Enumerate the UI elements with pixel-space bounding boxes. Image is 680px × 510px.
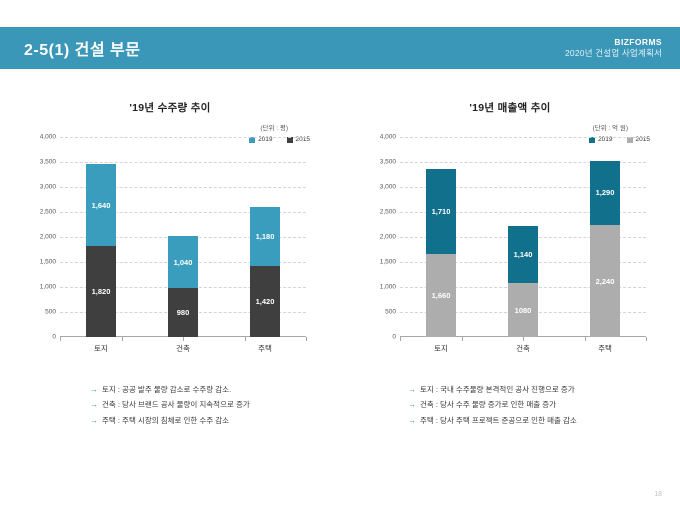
- x-axis-tickmark: [245, 337, 246, 341]
- bar-value-label: 1,040: [174, 258, 193, 267]
- bar-column[interactable]: 1,6401,820: [86, 137, 116, 337]
- bar-value-label: 1,140: [514, 250, 533, 259]
- note-line: →건축 : 당사 수주 물량 증가로 인한 매출 증가: [408, 397, 680, 412]
- note-text: 건축 : 당사 수주 물량 증가로 인한 매출 증가: [420, 398, 556, 412]
- x-axis-tickmark: [183, 337, 184, 341]
- bar-segment[interactable]: 1,660: [426, 254, 456, 337]
- y-axis: 4,0003,5003,0002,5002,0001,5001,0005000: [14, 137, 60, 337]
- x-axis-labels: 토지건축주택: [400, 343, 646, 354]
- x-axis-tickmark: [60, 337, 61, 341]
- x-axis-label: 주택: [245, 343, 285, 354]
- x-axis-label: 건축: [503, 343, 543, 354]
- note-line: →주택 : 당사 주택 프로젝트 준공으로 인한 매출 감소: [408, 413, 680, 428]
- chart-title: '19년 매출액 추이: [340, 100, 680, 115]
- y-axis: 4,0003,5003,0002,5002,0001,5001,0005000: [354, 137, 400, 337]
- y-axis-tick: 0: [52, 334, 56, 341]
- charts-row: '19년 수주량 추이 (단위 : 평) 20192015 4,0003,500…: [0, 100, 680, 362]
- bar-segment[interactable]: 980: [168, 288, 198, 337]
- bar-segment[interactable]: 1,820: [86, 246, 116, 337]
- note-line: →주택 : 주택 시장의 침체로 인한 수주 감소: [90, 413, 340, 428]
- bar-column[interactable]: 1,2902,240: [590, 137, 620, 337]
- note-text: 토지 : 국내 수주물량 본격적인 공사 진행으로 증가: [420, 383, 575, 397]
- chart-panel-revenue: '19년 매출액 추이 (단위 : 억 원) 20192015 4,0003,5…: [340, 100, 680, 362]
- notes-column-orders: →토지 : 공공 발주 물량 감소로 수주량 감소.→건축 : 당사 브랜드 공…: [0, 382, 340, 428]
- notes-row: →토지 : 공공 발주 물량 감소로 수주량 감소.→건축 : 당사 브랜드 공…: [0, 382, 680, 428]
- x-axis-labels: 토지건축주택: [60, 343, 306, 354]
- x-axis-tickmark: [585, 337, 586, 341]
- x-axis-tickmark: [306, 337, 307, 341]
- y-axis-tick: 3,000: [380, 184, 396, 191]
- note-text: 건축 : 당사 브랜드 공사 물량이 지속적으로 증가: [102, 398, 250, 412]
- page-title: 2-5(1) 건설 부문: [24, 36, 140, 60]
- note-text: 토지 : 공공 발주 물량 감소로 수주량 감소.: [102, 383, 231, 397]
- bar-value-label: 1,420: [256, 297, 275, 306]
- bar-value-label: 1,660: [432, 291, 451, 300]
- note-text: 주택 : 당사 주택 프로젝트 준공으로 인한 매출 감소: [420, 414, 577, 428]
- y-axis-tick: 3,000: [40, 184, 56, 191]
- y-axis-tick: 4,000: [40, 134, 56, 141]
- slide-header-band: 2-5(1) 건설 부문 BIZFORMS 2020년 건설업 사업계획서: [0, 27, 680, 69]
- chart-unit-label: (단위 : 억 원): [593, 122, 628, 132]
- arrow-right-icon: →: [408, 413, 416, 428]
- arrow-right-icon: →: [90, 397, 98, 412]
- arrow-right-icon: →: [408, 397, 416, 412]
- bar-column[interactable]: 1,7101,660: [426, 137, 456, 337]
- x-axis-tickmark: [462, 337, 463, 341]
- x-axis-label: 토지: [421, 343, 461, 354]
- header-brand-block: BIZFORMS 2020년 건설업 사업계획서: [565, 37, 662, 58]
- arrow-right-icon: →: [90, 413, 98, 428]
- bar-segment[interactable]: 1080: [508, 283, 538, 337]
- note-line: →토지 : 국내 수주물량 본격적인 공사 진행으로 증가: [408, 382, 680, 397]
- bar-group: 1,6401,8201,0409801,1801,420: [60, 137, 306, 337]
- y-axis-tick: 3,500: [380, 159, 396, 166]
- chart-title: '19년 수주량 추이: [0, 100, 340, 115]
- bar-segment[interactable]: 1,640: [86, 164, 116, 246]
- brand-subtitle: 2020년 건설업 사업계획서: [565, 48, 662, 59]
- bar-column[interactable]: 1,040980: [168, 137, 198, 337]
- y-axis-tick: 2,500: [380, 209, 396, 216]
- bar-value-label: 1,180: [256, 232, 275, 241]
- x-axis-tickmark: [400, 337, 401, 341]
- y-axis-tick: 500: [385, 309, 396, 316]
- bar-group: 1,7101,6601,14010801,2902,240: [400, 137, 646, 337]
- bar-column[interactable]: 1,1401080: [508, 137, 538, 337]
- bar-segment[interactable]: 1,180: [250, 207, 280, 266]
- bar-value-label: 2,240: [596, 277, 615, 286]
- note-text: 주택 : 주택 시장의 침체로 인한 수주 감소: [102, 414, 229, 428]
- bar-value-label: 1,290: [596, 188, 615, 197]
- y-axis-tick: 4,000: [380, 134, 396, 141]
- brand-name: BIZFORMS: [565, 37, 662, 48]
- bar-segment[interactable]: 1,140: [508, 226, 538, 283]
- chart-panel-orders: '19년 수주량 추이 (단위 : 평) 20192015 4,0003,500…: [0, 100, 340, 362]
- y-axis-tick: 1,000: [40, 284, 56, 291]
- x-axis-tickmark: [523, 337, 524, 341]
- x-axis-tickmark: [646, 337, 647, 341]
- x-axis-label: 건축: [163, 343, 203, 354]
- bar-segment[interactable]: 1,710: [426, 169, 456, 255]
- x-axis-label: 주택: [585, 343, 625, 354]
- y-axis-tick: 3,500: [40, 159, 56, 166]
- bar-value-label: 1,820: [92, 287, 111, 296]
- notes-column-revenue: →토지 : 국내 수주물량 본격적인 공사 진행으로 증가→건축 : 당사 수주…: [340, 382, 680, 428]
- bar-segment[interactable]: 1,290: [590, 161, 620, 226]
- y-axis-tick: 0: [392, 334, 396, 341]
- y-axis-tick: 2,500: [40, 209, 56, 216]
- note-line: →토지 : 공공 발주 물량 감소로 수주량 감소.: [90, 382, 340, 397]
- bar-column[interactable]: 1,1801,420: [250, 137, 280, 337]
- x-axis-label: 토지: [81, 343, 121, 354]
- chart-unit-label: (단위 : 평): [260, 122, 288, 132]
- bar-value-label: 1,710: [432, 207, 451, 216]
- y-axis-tick: 1,500: [380, 259, 396, 266]
- bar-segment[interactable]: 2,240: [590, 225, 620, 337]
- x-axis-tickmark: [122, 337, 123, 341]
- arrow-right-icon: →: [408, 382, 416, 397]
- y-axis-tick: 2,000: [380, 234, 396, 241]
- y-axis-tick: 1,000: [380, 284, 396, 291]
- note-line: →건축 : 당사 브랜드 공사 물량이 지속적으로 증가: [90, 397, 340, 412]
- chart-plot-area: 4,0003,5003,0002,5002,0001,5001,0005000 …: [340, 137, 680, 362]
- y-axis-tick: 2,000: [40, 234, 56, 241]
- chart-plot-area: 4,0003,5003,0002,5002,0001,5001,0005000 …: [0, 137, 340, 362]
- page-number: 18: [654, 491, 662, 498]
- bar-segment[interactable]: 1,040: [168, 236, 198, 288]
- bar-value-label: 1,640: [92, 201, 111, 210]
- bar-value-label: 1080: [515, 306, 532, 315]
- bar-value-label: 980: [177, 308, 190, 317]
- arrow-right-icon: →: [90, 382, 98, 397]
- bar-segment[interactable]: 1,420: [250, 266, 280, 337]
- y-axis-tick: 500: [45, 309, 56, 316]
- y-axis-tick: 1,500: [40, 259, 56, 266]
